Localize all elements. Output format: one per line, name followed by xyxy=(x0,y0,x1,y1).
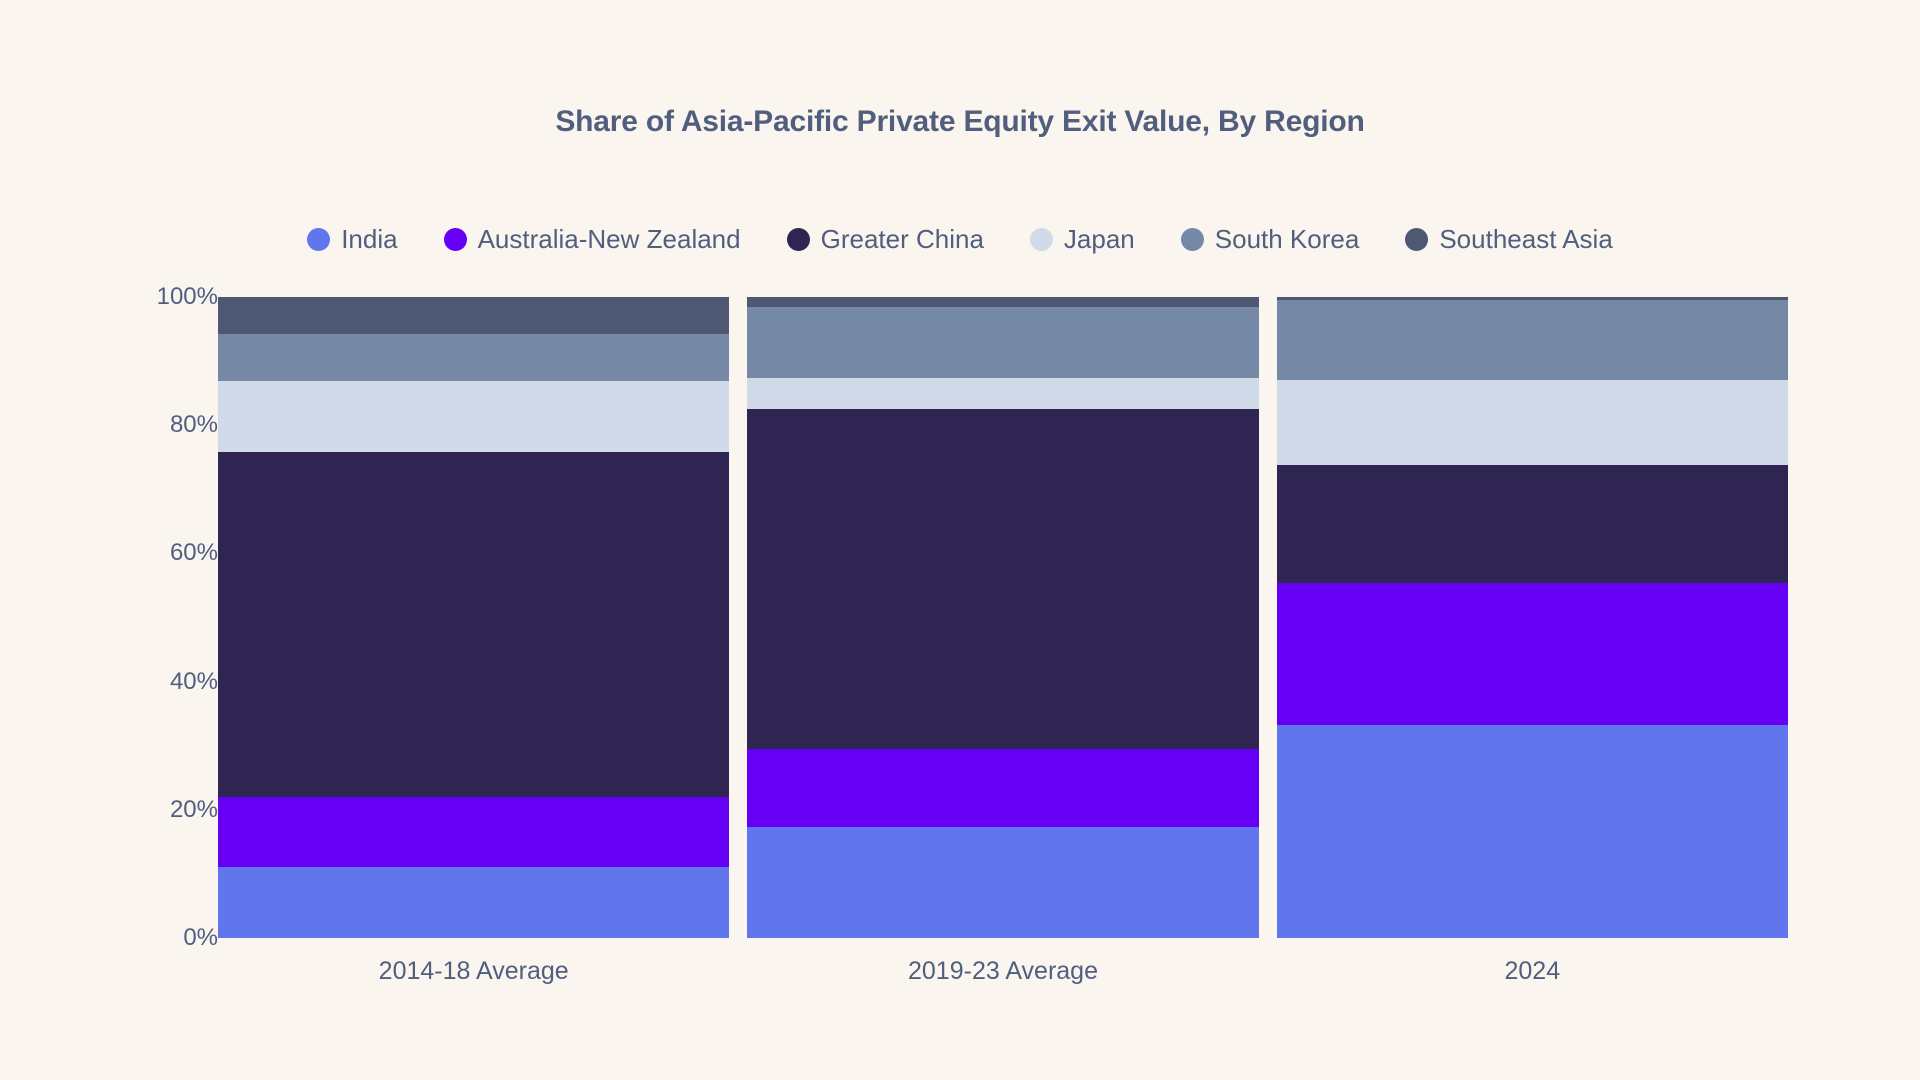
bar-segment-india[interactable] xyxy=(747,827,1258,938)
y-axis-tick: 40% xyxy=(128,668,218,696)
bar-segment-greater-china[interactable] xyxy=(1277,465,1788,583)
bar-stack xyxy=(747,297,1258,938)
bar-segment-south-korea[interactable] xyxy=(1277,300,1788,379)
y-axis-tick: 20% xyxy=(128,796,218,824)
bar-segment-japan[interactable] xyxy=(747,378,1258,409)
y-axis: 100% 80% 60% 40% 20% 0% xyxy=(128,280,218,960)
bar-stack xyxy=(1277,297,1788,938)
bar-segment-india[interactable] xyxy=(218,867,729,938)
x-axis-label: 2019-23 Average xyxy=(747,957,1258,986)
x-axis-label: 2024 xyxy=(1277,957,1788,986)
plot-area: 100% 80% 60% 40% 20% 0% 2014-18 Average xyxy=(0,0,1920,1080)
bar-segment-greater-china[interactable] xyxy=(747,409,1258,749)
bar-segment-greater-china[interactable] xyxy=(218,452,729,797)
bar-segment-australia-new-zealand[interactable] xyxy=(1277,583,1788,725)
bar-column-2019-23-average[interactable]: 2019-23 Average xyxy=(747,297,1258,938)
bar-columns: 2014-18 Average 2019-23 Average xyxy=(218,297,1788,938)
bar-segment-southeast-asia[interactable] xyxy=(747,297,1258,307)
bar-segment-southeast-asia[interactable] xyxy=(218,297,729,334)
y-axis-tick: 80% xyxy=(128,411,218,439)
bar-segment-south-korea[interactable] xyxy=(747,307,1258,378)
chart-root: Share of Asia-Pacific Private Equity Exi… xyxy=(0,0,1920,1080)
bar-segment-japan[interactable] xyxy=(1277,380,1788,465)
bar-column-2014-18-average[interactable]: 2014-18 Average xyxy=(218,297,729,938)
bar-stack xyxy=(218,297,729,938)
bar-segment-japan[interactable] xyxy=(218,381,729,452)
bar-segment-australia-new-zealand[interactable] xyxy=(747,749,1258,827)
bar-segment-australia-new-zealand[interactable] xyxy=(218,797,729,867)
x-axis-label: 2014-18 Average xyxy=(218,957,729,986)
y-axis-tick: 60% xyxy=(128,539,218,567)
bar-column-2024[interactable]: 2024 xyxy=(1277,297,1788,938)
y-axis-tick: 0% xyxy=(128,924,218,952)
bar-segment-india[interactable] xyxy=(1277,725,1788,938)
bar-segment-south-korea[interactable] xyxy=(218,334,729,381)
y-axis-tick: 100% xyxy=(128,283,218,311)
